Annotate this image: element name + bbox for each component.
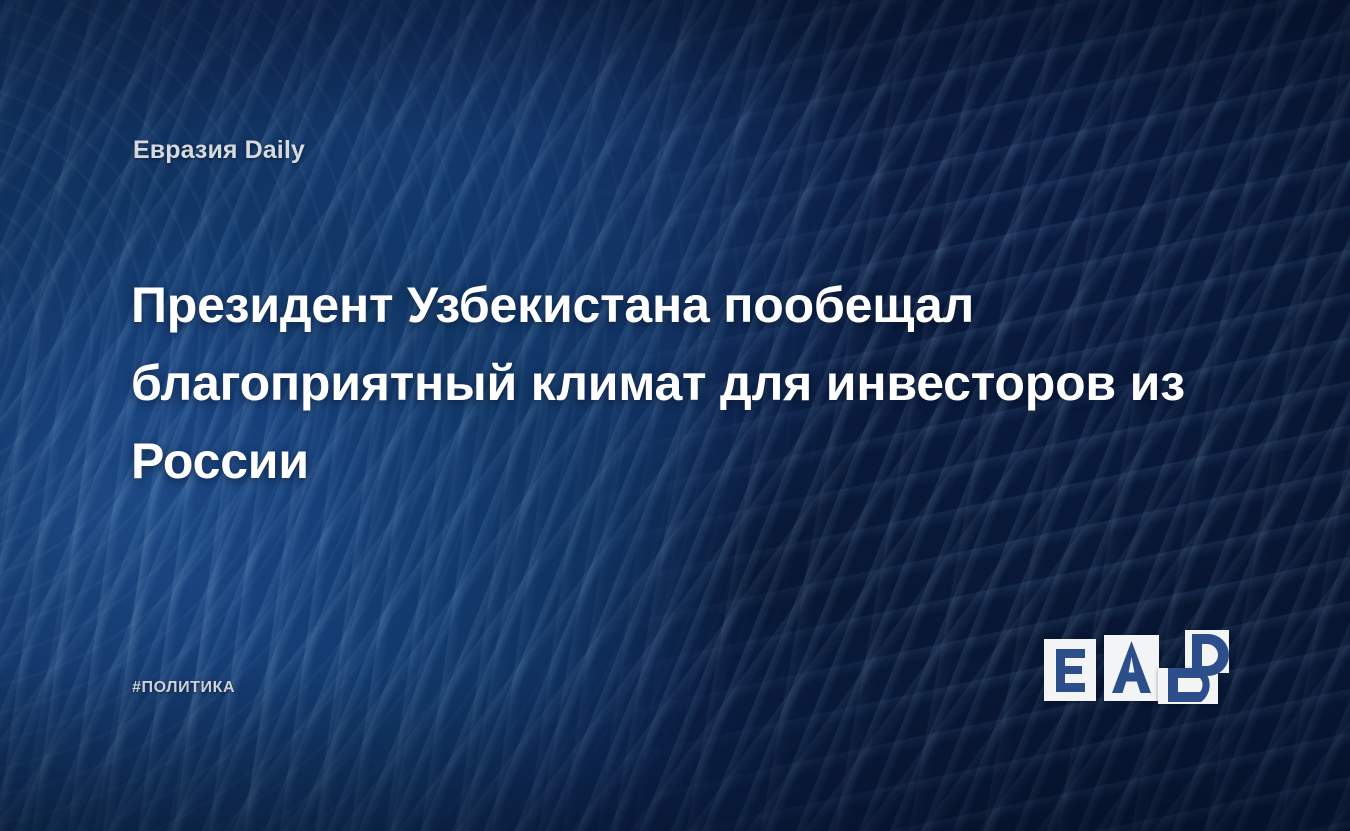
news-card: Евразия Daily Президент Узбекистана пооб… [0, 0, 1350, 831]
logo-letter-d-icon [1158, 630, 1229, 704]
logo-letter-a-icon [1104, 635, 1159, 701]
logo-letter-e-icon [1044, 639, 1096, 701]
category-tag: #ПОЛИТИКА [132, 679, 235, 697]
card-content: Евразия Daily Президент Узбекистана пооб… [0, 0, 1350, 831]
ead-logo [1044, 627, 1230, 705]
brand-wordmark: Евразия Daily [133, 136, 305, 165]
headline-title: Президент Узбекистана пообещал благоприя… [131, 266, 1221, 500]
